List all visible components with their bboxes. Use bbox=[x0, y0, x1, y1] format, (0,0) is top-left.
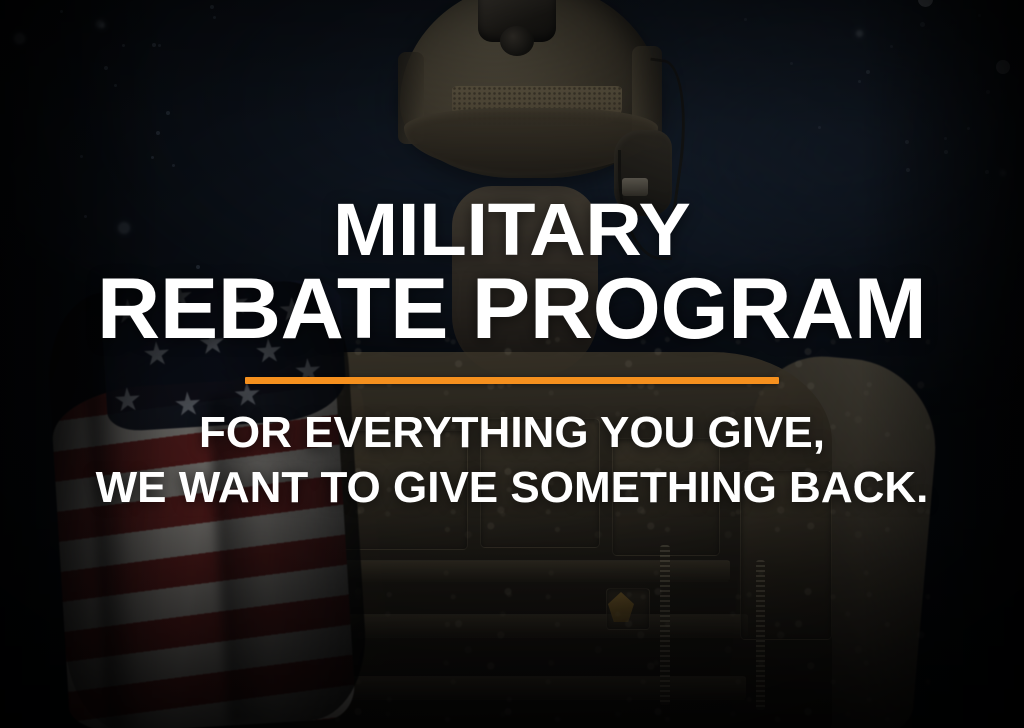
orange-divider bbox=[245, 377, 779, 384]
subheadline-line-1: FOR EVERYTHING YOU GIVE, bbox=[96, 408, 929, 459]
subheadline-line-2: WE WANT TO GIVE SOMETHING BACK. bbox=[96, 463, 929, 514]
headline-line-2: REBATE PROGRAM bbox=[97, 270, 926, 349]
headline: MILITARY REBATE PROGRAM bbox=[105, 0, 918, 349]
military-rebate-banner: MILITARY REBATE PROGRAM FOR EVERYTHING Y… bbox=[0, 0, 1024, 728]
banner-content: MILITARY REBATE PROGRAM FOR EVERYTHING Y… bbox=[0, 0, 1024, 728]
subheadline: FOR EVERYTHING YOU GIVE, WE WANT TO GIVE… bbox=[96, 408, 929, 513]
headline-line-1: MILITARY bbox=[81, 196, 943, 264]
